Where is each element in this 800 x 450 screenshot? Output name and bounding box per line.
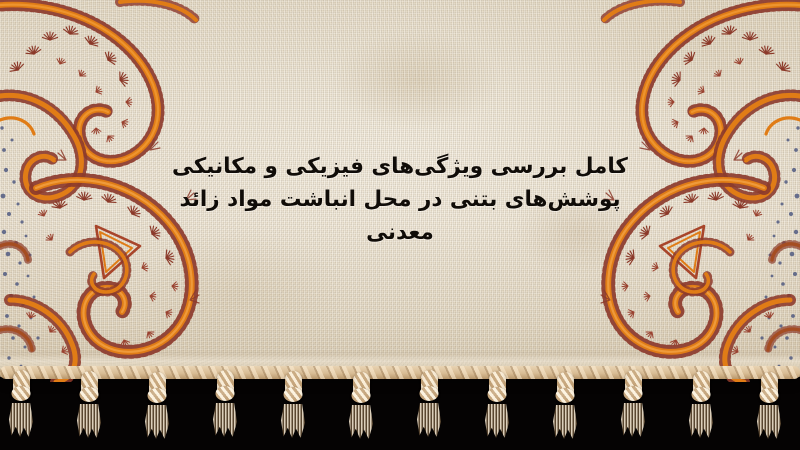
slide-title-block: کامل بررسی ویژگی‌های فیزیکی و مکانیکی پو… — [0, 150, 800, 249]
tassel — [210, 370, 240, 400]
tassel — [278, 371, 308, 401]
tassel-skirt — [553, 405, 577, 439]
tassel-knot — [81, 371, 98, 401]
tassel-bead — [692, 387, 711, 402]
tassel-knot — [217, 370, 234, 400]
tassel-bead — [148, 388, 167, 403]
tassel-bead — [760, 388, 779, 403]
fringe-cord — [0, 366, 800, 379]
tassel-bead — [556, 388, 575, 403]
tassel-knot — [625, 370, 642, 400]
tassel — [754, 372, 784, 402]
knotted-tassel-fringe — [0, 366, 800, 450]
tassel-knot — [149, 372, 166, 402]
tassel-skirt — [417, 403, 441, 437]
title-line-1: کامل بررسی ویژگی‌های فیزیکی و مکانیکی — [0, 150, 800, 183]
tassel-skirt — [349, 405, 373, 439]
tassel-skirt — [281, 404, 305, 438]
tassel-bead — [80, 387, 99, 402]
tassel-knot — [13, 370, 30, 400]
tassel-bead — [624, 386, 643, 401]
tassel-skirt — [757, 405, 781, 439]
tassel-bead — [12, 386, 31, 401]
tassel-bead — [216, 386, 235, 401]
tassel — [618, 370, 648, 400]
tassel-bead — [352, 388, 371, 403]
tassel-skirt — [145, 405, 169, 439]
tassel — [346, 372, 376, 402]
tassel-knot — [285, 371, 302, 401]
tassel — [414, 370, 444, 400]
tassel-knot — [421, 370, 438, 400]
tassel — [482, 371, 512, 401]
tassel-skirt — [77, 404, 101, 438]
tassel — [74, 371, 104, 401]
title-line-3: معدنی — [0, 216, 800, 249]
slide-canvas: کامل بررسی ویژگی‌های فیزیکی و مکانیکی پو… — [0, 0, 800, 450]
tassel-knot — [557, 372, 574, 402]
tassel-bead — [420, 386, 439, 401]
tassel — [550, 372, 580, 402]
tassel-skirt — [621, 403, 645, 437]
tassel-knot — [489, 371, 506, 401]
tassel-skirt — [689, 404, 713, 438]
title-line-2: پوشش‌های بتنی در محل انباشت مواد زائد — [0, 183, 800, 216]
tassel-knot — [693, 371, 710, 401]
tassel-skirt — [485, 404, 509, 438]
tassel — [686, 371, 716, 401]
tassel-knot — [761, 372, 778, 402]
tassel-bead — [284, 387, 303, 402]
tassel — [6, 370, 36, 400]
tassel-skirt — [213, 403, 237, 437]
tassel-knot — [353, 372, 370, 402]
tassel — [142, 372, 172, 402]
tassel-bead — [488, 387, 507, 402]
tassel-skirt — [9, 403, 33, 437]
